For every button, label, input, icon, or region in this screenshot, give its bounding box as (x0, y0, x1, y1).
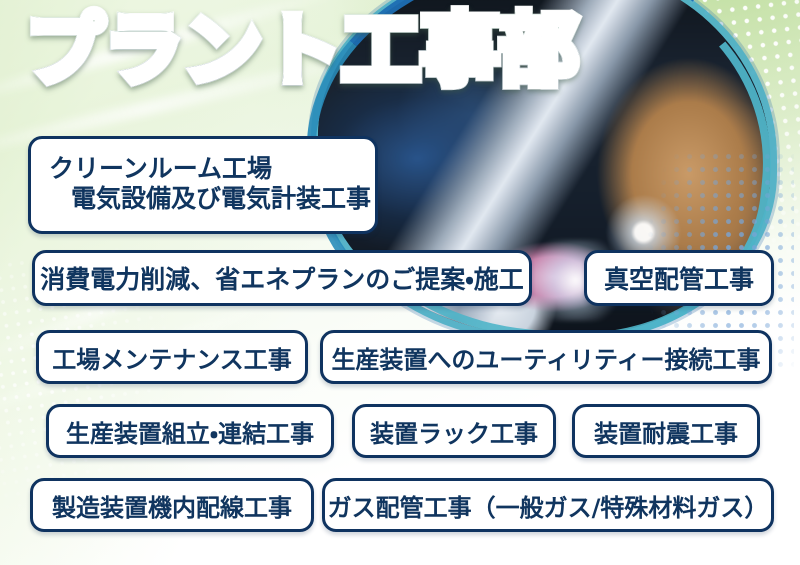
service-pill-internal-wiring[interactable]: 製造装置機内配線工事 (30, 478, 314, 532)
service-pill-equipment-seismic[interactable]: 装置耐震工事 (572, 404, 760, 458)
service-pill-factory-maintenance[interactable]: 工場メンテナンス工事 (36, 330, 308, 384)
service-pill-vacuum-piping[interactable]: 真空配管工事 (584, 250, 774, 306)
service-pill-internal-wiring-label: 製造装置機内配線工事 (52, 488, 292, 523)
service-pill-equipment-seismic-label: 装置耐震工事 (594, 414, 738, 449)
service-pill-gas-piping[interactable]: ガス配管工事（一般ガス/特殊材料ガス） (322, 478, 774, 532)
service-pill-cleanroom-line2: 電気設備及び電気計装工事 (49, 184, 371, 215)
page-title: プラント工事部 (26, 12, 579, 90)
service-pill-cleanroom[interactable]: クリーンルーム工場 電気設備及び電気計装工事 (28, 136, 378, 234)
service-pill-cleanroom-line1: クリーンルーム工場 (49, 154, 272, 185)
service-pill-assembly-connection-label: 生産装置組立・連結工事 (66, 414, 314, 449)
service-pill-assembly-connection[interactable]: 生産装置組立・連結工事 (46, 404, 334, 458)
service-pill-equipment-rack-label: 装置ラック工事 (370, 414, 538, 449)
service-pill-power-saving-label: 消費電力削減、省エネプランのご提案・施工 (40, 260, 524, 296)
service-pill-power-saving[interactable]: 消費電力削減、省エネプランのご提案・施工 (32, 250, 532, 306)
service-pill-utility-connection[interactable]: 生産装置へのユーティリティー接続工事 (320, 330, 772, 384)
service-pill-vacuum-piping-label: 真空配管工事 (604, 260, 754, 296)
service-pill-utility-connection-label: 生産装置へのユーティリティー接続工事 (331, 340, 760, 375)
service-pill-factory-maintenance-label: 工場メンテナンス工事 (52, 340, 292, 375)
plant-construction-banner: プラント工事部 プラント工事部 クリーンルーム工場 電気設備及び電気計装工事 消… (0, 0, 800, 565)
service-pill-gas-piping-label: ガス配管工事（一般ガス/特殊材料ガス） (328, 488, 769, 523)
service-pill-equipment-rack[interactable]: 装置ラック工事 (352, 404, 556, 458)
